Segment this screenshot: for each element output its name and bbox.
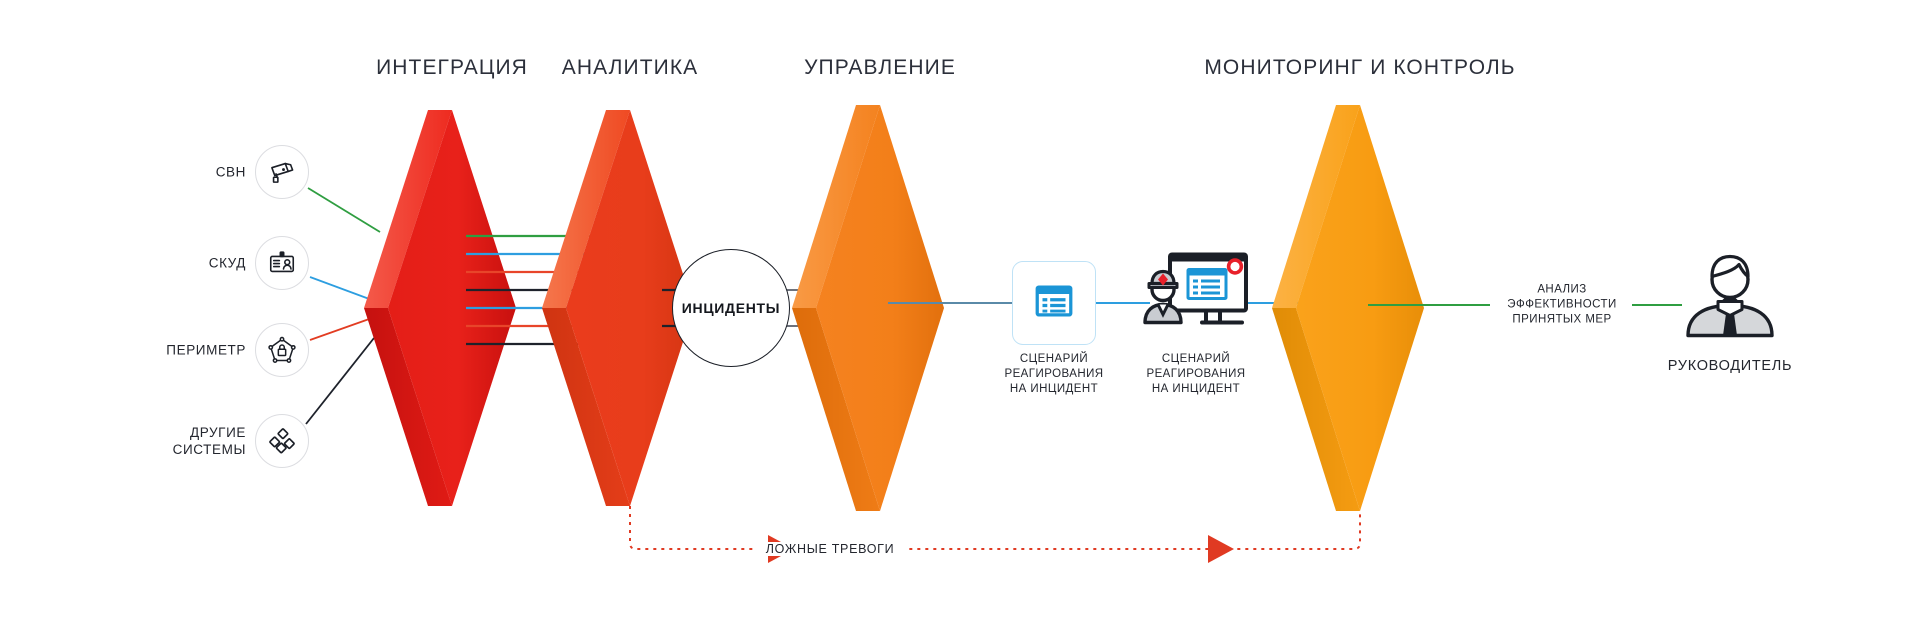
- source-label-acs: СКУД: [209, 255, 246, 272]
- manager-node[interactable]: [1682, 252, 1778, 349]
- false-alarms-label: ЛОЖНЫЕ ТРЕВОГИ: [756, 542, 905, 556]
- diagram-canvas: ИНТЕГРАЦИЯ АНАЛИТИКА УПРАВЛЕНИЕ МОНИТОРИ…: [0, 0, 1920, 629]
- source-label-other-systems: ДРУГИЕ СИСТЕМЫ: [173, 424, 246, 458]
- scenario-card-caption: СЦЕНАРИЙ РЕАГИРОВАНИЯ НА ИНЦИДЕНТ: [1004, 352, 1103, 397]
- stage-title-analytics: АНАЛИТИКА: [562, 56, 699, 80]
- operator-node-caption: СЦЕНАРИЙ РЕАГИРОВАНИЯ НА ИНЦИДЕНТ: [1146, 352, 1245, 397]
- analysis-flow-label: АНАЛИЗ ЭФФЕКТИВНОСТИ ПРИНЯТЫХ МЕР: [1503, 283, 1620, 328]
- stage-title-integration: ИНТЕГРАЦИЯ: [376, 56, 528, 80]
- document-list-icon: [1031, 278, 1077, 329]
- manager-avatar-icon: [1682, 252, 1778, 349]
- stage-title-management: УПРАВЛЕНИЕ: [804, 56, 956, 80]
- prism-monitoring: [1272, 105, 1424, 511]
- source-icon-perimeter[interactable]: [255, 323, 309, 377]
- source-icon-other-systems[interactable]: [255, 414, 309, 468]
- manager-label: РУКОВОДИТЕЛЬ: [1668, 358, 1792, 374]
- perimeter-lock-icon: [267, 335, 297, 365]
- prism-management: [792, 105, 944, 511]
- source-label-cctv: СВН: [216, 164, 246, 181]
- incident-response-scenario-card[interactable]: [1012, 261, 1096, 345]
- id-badge-icon: [267, 248, 297, 278]
- operator-monitor-icon: [1140, 250, 1252, 351]
- cctv-camera-icon: [267, 157, 297, 187]
- diagram-graphics: [0, 0, 1920, 629]
- source-label-perimeter: ПЕРИМЕТР: [166, 342, 246, 359]
- incidents-label: ИНЦИДЕНТЫ: [682, 300, 780, 316]
- operator-monitor-node[interactable]: [1140, 250, 1252, 351]
- false-alarm-path: [630, 506, 1360, 549]
- source-icon-cctv[interactable]: [255, 145, 309, 199]
- stage-title-monitoring: МОНИТОРИНГ И КОНТРОЛЬ: [1204, 56, 1515, 80]
- source-icon-acs[interactable]: [255, 236, 309, 290]
- other-systems-icon: [267, 426, 297, 456]
- incidents-node[interactable]: ИНЦИДЕНТЫ: [672, 249, 790, 367]
